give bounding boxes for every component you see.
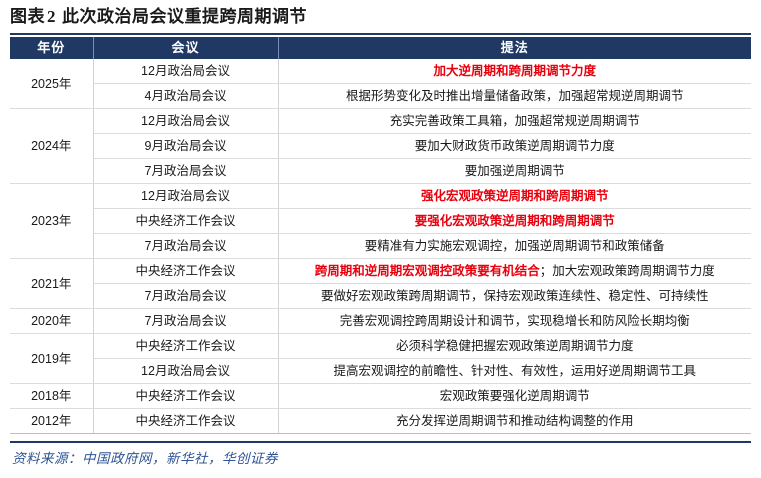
table-header: 年份 会议 提法 bbox=[10, 37, 751, 59]
table-row: 4月政治局会议根据形势变化及时推出增量储备政策，加强超常规逆周期调节 bbox=[10, 84, 751, 109]
statement-text: 必须科学稳健把握宏观政策逆周期调节力度 bbox=[396, 339, 634, 353]
title-number: 2 bbox=[47, 7, 56, 26]
table-row: 7月政治局会议要加强逆周期调节 bbox=[10, 159, 751, 184]
cell-meeting: 4月政治局会议 bbox=[93, 84, 278, 109]
table-row: 7月政治局会议要做好宏观政策跨周期调节，保持宏观政策连续性、稳定性、可持续性 bbox=[10, 284, 751, 309]
cell-meeting: 中央经济工作会议 bbox=[93, 409, 278, 434]
table-row: 2012年中央经济工作会议充分发挥逆周期调节和推动结构调整的作用 bbox=[10, 409, 751, 434]
cell-meeting: 12月政治局会议 bbox=[93, 359, 278, 384]
cell-statement: 要精准有力实施宏观调控，加强逆周期调节和政策储备 bbox=[278, 234, 751, 259]
cell-statement: 加大逆周期和跨周期调节力度 bbox=[278, 59, 751, 84]
table-row: 2021年中央经济工作会议跨周期和逆周期宏观调控政策要有机结合；加大宏观政策跨周… bbox=[10, 259, 751, 284]
table-body: 2025年12月政治局会议加大逆周期和跨周期调节力度4月政治局会议根据形势变化及… bbox=[10, 59, 751, 434]
statement-highlight: 加大逆周期和跨周期调节力度 bbox=[433, 64, 596, 78]
cell-meeting: 7月政治局会议 bbox=[93, 309, 278, 334]
page-title: 图表2此次政治局会议重提跨周期调节 bbox=[10, 4, 751, 30]
cell-statement: 必须科学稳健把握宏观政策逆周期调节力度 bbox=[278, 334, 751, 359]
source-note: 资料来源：中国政府网，新华社，华创证券 bbox=[12, 447, 278, 467]
cell-year: 2024年 bbox=[10, 109, 93, 184]
cell-statement: 要做好宏观政策跨周期调节，保持宏观政策连续性、稳定性、可持续性 bbox=[278, 284, 751, 309]
statement-text: 要做好宏观政策跨周期调节，保持宏观政策连续性、稳定性、可持续性 bbox=[321, 289, 709, 303]
cell-meeting: 12月政治局会议 bbox=[93, 184, 278, 209]
cell-statement: 根据形势变化及时推出增量储备政策，加强超常规逆周期调节 bbox=[278, 84, 751, 109]
statement-text: 提高宏观调控的前瞻性、针对性、有效性，运用好逆周期调节工具 bbox=[333, 364, 696, 378]
cell-year: 2019年 bbox=[10, 334, 93, 384]
statement-text: 完善宏观调控跨周期设计和调节，实现稳增长和防风险长期均衡 bbox=[340, 314, 690, 328]
statement-text: 要精准有力实施宏观调控，加强逆周期调节和政策储备 bbox=[365, 239, 665, 253]
cell-meeting: 7月政治局会议 bbox=[93, 159, 278, 184]
cell-statement: 跨周期和逆周期宏观调控政策要有机结合；加大宏观政策跨周期调节力度 bbox=[278, 259, 751, 284]
table-row: 2020年7月政治局会议完善宏观调控跨周期设计和调节，实现稳增长和防风险长期均衡 bbox=[10, 309, 751, 334]
cell-statement: 强化宏观政策逆周期和跨周期调节 bbox=[278, 184, 751, 209]
table-container: 年份 会议 提法 2025年12月政治局会议加大逆周期和跨周期调节力度4月政治局… bbox=[10, 37, 751, 434]
table-row: 2018年中央经济工作会议宏观政策要强化逆周期调节 bbox=[10, 384, 751, 409]
statement-text: ；加大宏观政策跨周期调节力度 bbox=[540, 264, 715, 278]
table-row: 2019年中央经济工作会议必须科学稳健把握宏观政策逆周期调节力度 bbox=[10, 334, 751, 359]
cell-statement: 完善宏观调控跨周期设计和调节，实现稳增长和防风险长期均衡 bbox=[278, 309, 751, 334]
table-row: 9月政治局会议要加大财政货币政策逆周期调节力度 bbox=[10, 134, 751, 159]
statement-highlight: 跨周期和逆周期宏观调控政策要有机结合 bbox=[315, 264, 540, 278]
title-block: 图表2此次政治局会议重提跨周期调节 bbox=[10, 4, 751, 34]
cell-year: 2023年 bbox=[10, 184, 93, 259]
cell-meeting: 12月政治局会议 bbox=[93, 59, 278, 84]
table-row: 2025年12月政治局会议加大逆周期和跨周期调节力度 bbox=[10, 59, 751, 84]
cell-meeting: 中央经济工作会议 bbox=[93, 384, 278, 409]
statement-highlight: 要强化宏观政策逆周期和跨周期调节 bbox=[415, 214, 615, 228]
statement-text: 要加大财政货币政策逆周期调节力度 bbox=[415, 139, 615, 153]
cell-meeting: 9月政治局会议 bbox=[93, 134, 278, 159]
cell-meeting: 中央经济工作会议 bbox=[93, 259, 278, 284]
cell-statement: 要强化宏观政策逆周期和跨周期调节 bbox=[278, 209, 751, 234]
cell-meeting: 7月政治局会议 bbox=[93, 234, 278, 259]
title-divider bbox=[10, 33, 751, 35]
statement-text: 要加强逆周期调节 bbox=[465, 164, 565, 178]
column-header-statement: 提法 bbox=[278, 37, 751, 59]
statement-text: 宏观政策要强化逆周期调节 bbox=[440, 389, 590, 403]
cell-statement: 要加大财政货币政策逆周期调节力度 bbox=[278, 134, 751, 159]
cell-meeting: 中央经济工作会议 bbox=[93, 334, 278, 359]
table-row: 2024年12月政治局会议充实完善政策工具箱，加强超常规逆周期调节 bbox=[10, 109, 751, 134]
cell-statement: 充实完善政策工具箱，加强超常规逆周期调节 bbox=[278, 109, 751, 134]
cell-meeting: 7月政治局会议 bbox=[93, 284, 278, 309]
column-header-year: 年份 bbox=[10, 37, 93, 59]
title-text: 此次政治局会议重提跨周期调节 bbox=[62, 7, 307, 26]
exhibit-page: 图表2此次政治局会议重提跨周期调节 年份 会议 提法 2025年12月政治局会议… bbox=[0, 0, 761, 478]
cell-statement: 充分发挥逆周期调节和推动结构调整的作用 bbox=[278, 409, 751, 434]
cell-meeting: 12月政治局会议 bbox=[93, 109, 278, 134]
statement-highlight: 强化宏观政策逆周期和跨周期调节 bbox=[421, 189, 609, 203]
cell-statement: 宏观政策要强化逆周期调节 bbox=[278, 384, 751, 409]
policy-statements-table: 年份 会议 提法 2025年12月政治局会议加大逆周期和跨周期调节力度4月政治局… bbox=[10, 37, 751, 434]
cell-year: 2018年 bbox=[10, 384, 93, 409]
statement-text: 充分发挥逆周期调节和推动结构调整的作用 bbox=[396, 414, 634, 428]
table-header-row: 年份 会议 提法 bbox=[10, 37, 751, 59]
statement-text: 充实完善政策工具箱，加强超常规逆周期调节 bbox=[390, 114, 640, 128]
source-divider bbox=[10, 441, 751, 443]
title-label: 图表 bbox=[10, 7, 45, 26]
cell-year: 2021年 bbox=[10, 259, 93, 309]
table-row: 12月政治局会议提高宏观调控的前瞻性、针对性、有效性，运用好逆周期调节工具 bbox=[10, 359, 751, 384]
table-row: 中央经济工作会议要强化宏观政策逆周期和跨周期调节 bbox=[10, 209, 751, 234]
cell-statement: 提高宏观调控的前瞻性、针对性、有效性，运用好逆周期调节工具 bbox=[278, 359, 751, 384]
cell-statement: 要加强逆周期调节 bbox=[278, 159, 751, 184]
cell-meeting: 中央经济工作会议 bbox=[93, 209, 278, 234]
statement-text: 根据形势变化及时推出增量储备政策，加强超常规逆周期调节 bbox=[346, 89, 684, 103]
table-row: 7月政治局会议要精准有力实施宏观调控，加强逆周期调节和政策储备 bbox=[10, 234, 751, 259]
column-header-meeting: 会议 bbox=[93, 37, 278, 59]
cell-year: 2025年 bbox=[10, 59, 93, 109]
cell-year: 2012年 bbox=[10, 409, 93, 434]
table-row: 2023年12月政治局会议强化宏观政策逆周期和跨周期调节 bbox=[10, 184, 751, 209]
cell-year: 2020年 bbox=[10, 309, 93, 334]
